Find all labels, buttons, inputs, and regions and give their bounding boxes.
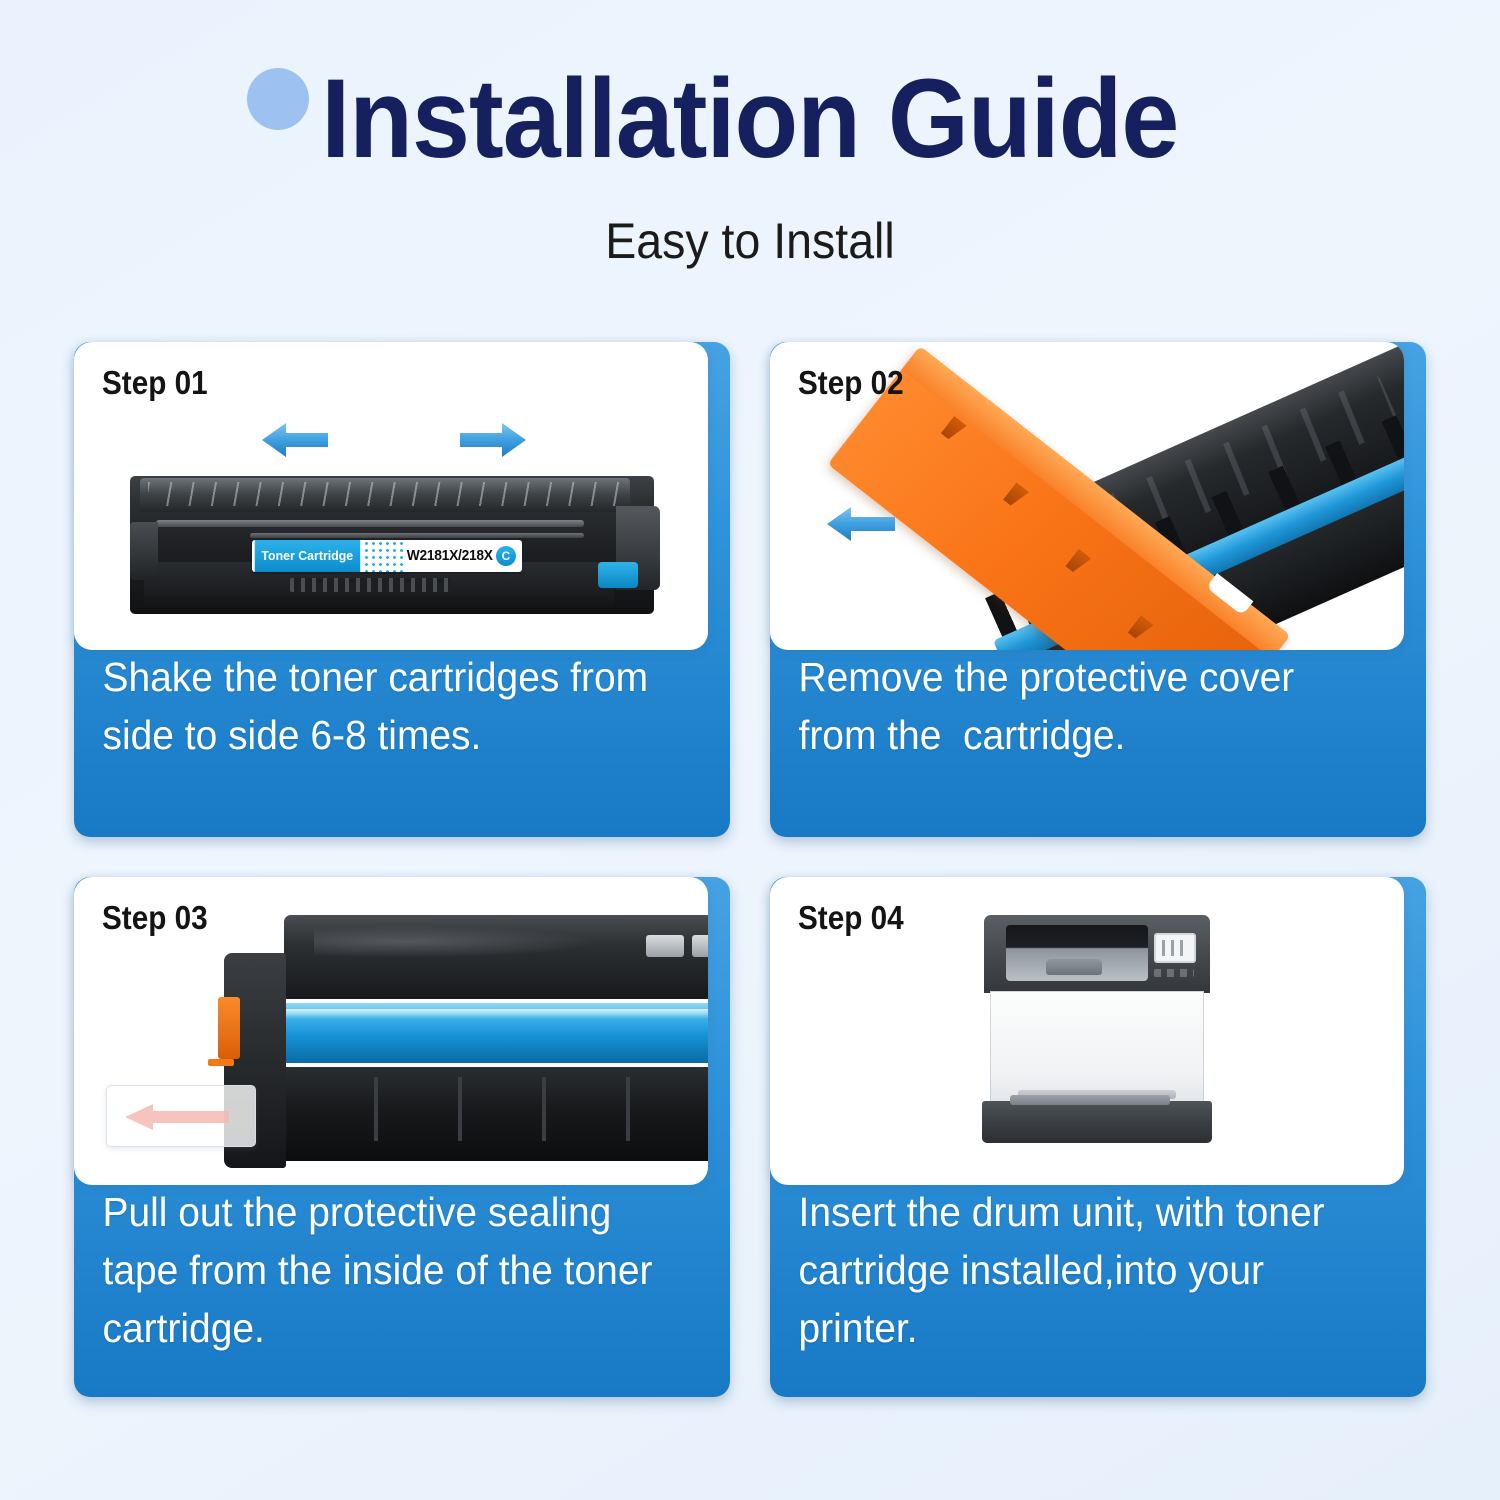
step-label: Step 03 [102,899,208,937]
step-card-02[interactable]: Remove the protective cover from the car… [770,342,1426,837]
title-wrap: Installation Guide [289,60,1211,178]
drum-chips [646,935,708,957]
printer-buttons [1154,969,1194,977]
step-image-panel: Step 02 [770,342,1404,650]
drum-chip [646,935,684,957]
cartridge-ridge [156,520,584,527]
page-header: Installation Guide Easy to Install [0,0,1500,270]
step-card-04[interactable]: Insert the drum unit, with toner cartrid… [770,877,1426,1397]
cartridge-cyan-knob [598,562,638,588]
step-label: Step 01 [102,364,208,402]
arrow-right-icon [458,420,528,460]
drum-unit [224,901,708,1185]
cartridge-top-shell [140,478,630,512]
step-caption: Pull out the protective sealing tape fro… [74,1183,697,1358]
orange-pull-pin [208,1059,234,1066]
printer-body [990,991,1204,1105]
cartridge-model-code: W2181X/218X [406,547,492,564]
cartridge-vent [290,578,450,592]
accent-circle-icon [247,68,309,130]
step-image-panel: Step 01 [74,342,708,650]
cyan-color-badge: C [496,546,516,566]
step-image-panel: Step 03 [74,877,708,1185]
printer-base-tray [982,1101,1212,1143]
drum-chip [692,935,708,957]
drum-skirt [264,1067,708,1161]
step-image-panel: Step 04 [770,877,1404,1185]
orange-tab [218,997,240,1059]
printer-display-icon [1154,933,1196,963]
sealing-tape-arrow-icon [123,1102,233,1132]
step-card-01[interactable]: Shake the toner cartridges from side to … [74,342,730,837]
drum-top-shell [284,915,708,999]
toner-cartridge: Toner Cartridge W2181X/218X C [130,476,654,614]
sealing-tape-tab [106,1085,256,1147]
cartridge-label: Toner Cartridge W2181X/218X C [252,540,522,572]
step-caption: Shake the toner cartridges from side to … [74,648,697,764]
step-label: Step 04 [798,899,904,937]
arrow-left-icon [260,420,330,460]
steps-grid: Shake the toner cartridges from side to … [74,342,1426,1397]
arrow-left-icon [825,504,897,544]
printer-top-panel [984,915,1210,993]
halftone-dots-icon [363,540,403,572]
step-caption: Remove the protective cover from the car… [770,648,1393,764]
cartridge-ridge-secondary [250,533,584,538]
step-card-03[interactable]: Pull out the protective sealing tape fro… [74,877,730,1397]
cartridge-left-tab [130,522,158,580]
printer-icon [982,915,1212,1147]
page-subtitle: Easy to Install [53,212,1448,270]
step-caption: Insert the drum unit, with toner cartrid… [770,1183,1393,1358]
step-label: Step 02 [798,364,904,402]
page-title: Installation Guide [321,60,1178,178]
cartridge-brand-text: Toner Cartridge [255,540,360,572]
printer-tray-lip [1046,959,1102,975]
drum-roller [266,1003,708,1063]
